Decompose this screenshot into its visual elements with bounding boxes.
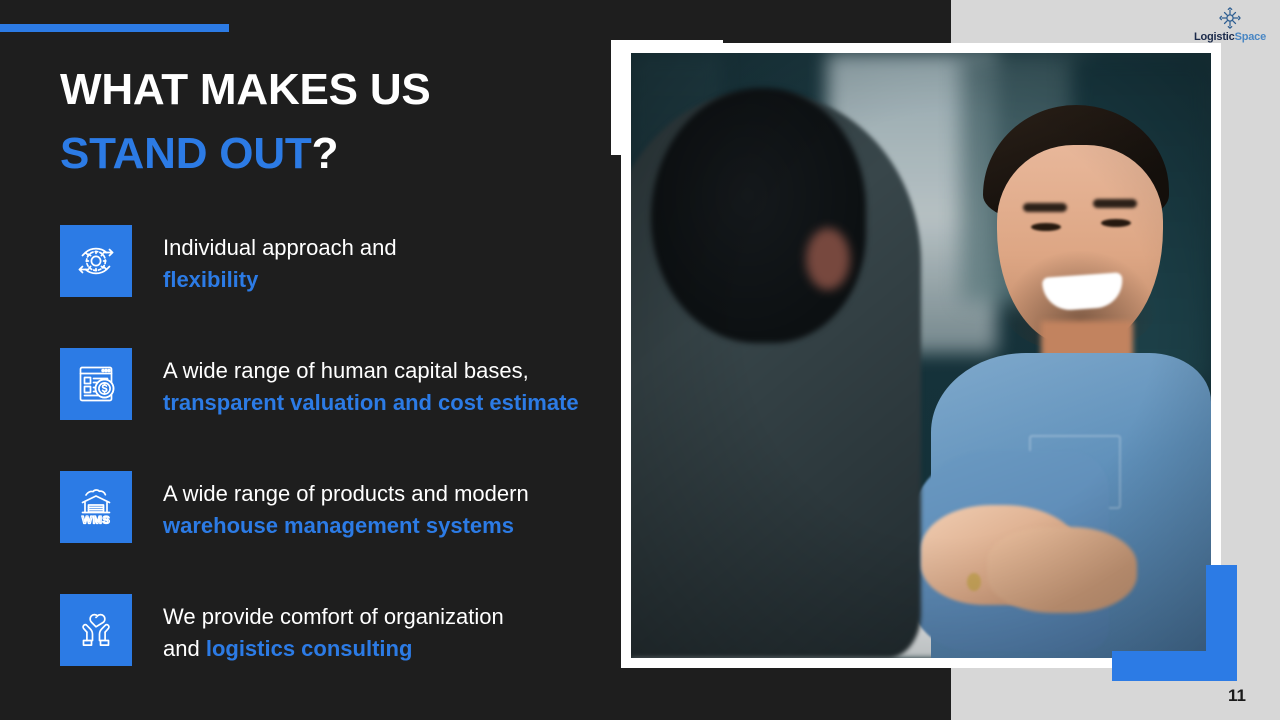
list-item-text-highlight: flexibility xyxy=(163,267,258,292)
gear-cycle-icon xyxy=(60,225,132,297)
list-item-text-plain: A wide range of products and modern xyxy=(163,481,529,506)
list-item-text-plain: A wide range of human capital bases, xyxy=(163,358,529,383)
list-item-text-highlight: warehouse management systems xyxy=(163,513,514,538)
document-dollar-icon xyxy=(60,348,132,420)
brand-name-part1: Logistic xyxy=(1194,31,1235,43)
hero-photo-handshake xyxy=(631,53,1211,658)
brand-name-part2: Space xyxy=(1235,31,1266,43)
title-accent-text: STAND OUT xyxy=(60,129,312,178)
feature-list: Individual approach and flexibility xyxy=(60,225,605,717)
svg-text:WMS: WMS xyxy=(82,515,111,527)
list-item-text: Individual approach and flexibility xyxy=(163,225,397,296)
page-number: 11 xyxy=(1228,686,1246,706)
title-question-mark: ? xyxy=(312,129,339,178)
list-item-text: A wide range of products and modern ware… xyxy=(163,471,529,542)
list-item-text-highlight: logistics consulting xyxy=(206,636,413,661)
list-item[interactable]: WMS A wide range of products and modern … xyxy=(60,471,605,594)
photo-vignette xyxy=(631,53,1211,658)
list-item-text: We provide comfort of organization and l… xyxy=(163,594,504,665)
list-item-text-plain: Individual approach and xyxy=(163,235,397,260)
list-item[interactable]: Individual approach and flexibility xyxy=(60,225,605,348)
title-line-2: STAND OUT? xyxy=(60,122,600,186)
hands-heart-icon xyxy=(60,594,132,666)
list-item-text-plain-2: and xyxy=(163,636,206,661)
list-item-text-highlight: transparent valuation and cost estimate xyxy=(163,390,579,415)
slide-what-makes-us-stand-out: WHAT MAKES US STAND OUT? xyxy=(0,0,1280,720)
top-left-accent-rule xyxy=(0,24,229,32)
photo-corner-bracket-blue-horizontal xyxy=(1112,651,1237,681)
network-hub-icon xyxy=(1218,6,1242,30)
list-item-text: A wide range of human capital bases, tra… xyxy=(163,348,579,419)
list-item-text-plain: We provide comfort of organization xyxy=(163,604,504,629)
title-line-1: WHAT MAKES US xyxy=(60,58,600,122)
list-item[interactable]: A wide range of human capital bases, tra… xyxy=(60,348,605,471)
brand-logo: LogisticSpace xyxy=(1185,6,1275,43)
brand-name: LogisticSpace xyxy=(1185,31,1275,43)
page-title: WHAT MAKES US STAND OUT? xyxy=(60,58,600,186)
warehouse-wms-icon: WMS xyxy=(60,471,132,543)
list-item[interactable]: We provide comfort of organization and l… xyxy=(60,594,605,717)
